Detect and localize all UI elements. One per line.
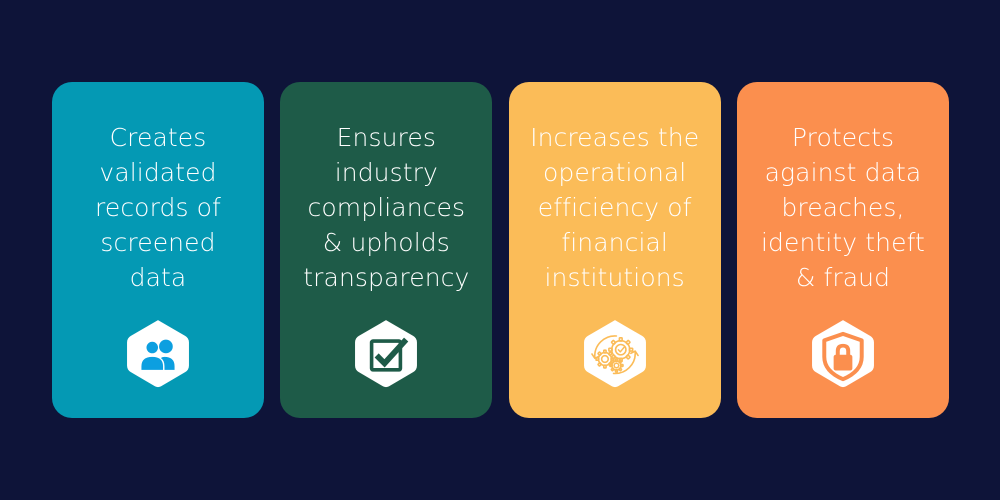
card-ensures-industry-compliances[interactable]: Ensures industry compliances & upholds t… [280, 82, 492, 418]
card-icon-wrap [737, 318, 949, 390]
gears-process-check-icon [579, 318, 651, 390]
cards-row: Creates validated records of screened da… [52, 82, 949, 418]
card-text: Creates validated records of screened da… [65, 120, 251, 295]
shield-lock-icon [807, 318, 879, 390]
card-icon-wrap [52, 318, 264, 390]
checkbox-check-icon [350, 318, 422, 390]
card-text: Increases the operational efficiency of … [522, 120, 708, 295]
card-increases-operational-efficiency[interactable]: Increases the operational efficiency of … [509, 82, 721, 418]
card-protects-against-data-breaches[interactable]: Protects against data breaches, identity… [737, 82, 949, 418]
card-icon-wrap [509, 318, 721, 390]
card-text: Ensures industry compliances & upholds t… [293, 120, 479, 295]
people-group-icon [122, 318, 194, 390]
card-text: Protects against data breaches, identity… [750, 120, 936, 295]
infographic-root: Creates validated records of screened da… [0, 0, 1000, 500]
card-creates-validated-records[interactable]: Creates validated records of screened da… [52, 82, 264, 418]
card-icon-wrap [280, 318, 492, 390]
